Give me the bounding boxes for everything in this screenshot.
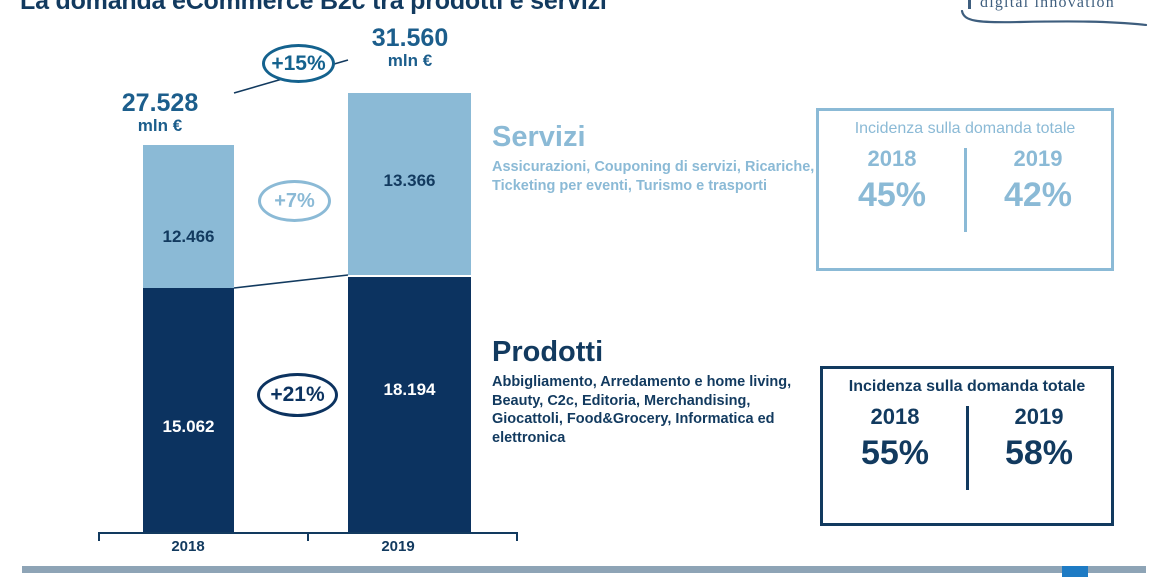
total-value-2019: 31.560	[335, 25, 485, 52]
info-box-prodotti-value-2018: 55%	[823, 432, 967, 475]
info-box-servizi-value-2019: 42%	[965, 174, 1111, 217]
info-box-prodotti-year-2018: 2018	[823, 402, 967, 432]
axis-category-2018: 2018	[128, 538, 248, 555]
info-box-servizi-year-2019: 2019	[965, 144, 1111, 174]
axis-tick-left	[98, 532, 100, 541]
growth-badge-total: +15%	[262, 44, 335, 83]
bar-value-prodotti-2019: 18.194	[348, 380, 471, 400]
info-box-prodotti: Incidenza sulla domanda totale 2018 55% …	[820, 366, 1114, 526]
info-box-prodotti-col-2018: 2018 55%	[823, 402, 967, 474]
info-box-prodotti-col-2019: 2019 58%	[967, 402, 1111, 474]
bar-segment-prodotti-2019[interactable]	[348, 277, 471, 533]
info-box-prodotti-year-2019: 2019	[967, 402, 1111, 432]
logo-bar-icon	[968, 0, 971, 9]
info-box-prodotti-heading: Incidenza sulla domanda totale	[823, 378, 1111, 396]
info-box-prodotti-divider	[966, 406, 969, 490]
bar-value-servizi-2018: 12.466	[143, 227, 234, 247]
axis-tick-right	[516, 532, 518, 541]
total-value-2018: 27.528	[85, 90, 235, 117]
brand-logo: digital innovation	[944, 0, 1166, 34]
info-box-servizi-col-2018: 2018 45%	[819, 144, 965, 216]
category-servizi: Servizi Assicurazioni, Couponing di serv…	[492, 123, 822, 195]
footer-accent-square	[1062, 566, 1088, 577]
info-box-servizi-heading: Incidenza sulla domanda totale	[819, 120, 1111, 138]
info-box-servizi-divider	[964, 148, 967, 232]
stacked-bar-chart: 27.528 mln € 31.560 mln € 12.466 15.062 …	[0, 0, 520, 584]
category-prodotti-title: Prodotti	[492, 338, 822, 367]
axis-category-2019: 2019	[338, 538, 458, 555]
info-box-prodotti-value-2019: 58%	[967, 432, 1111, 475]
footer-rule	[22, 566, 1146, 573]
growth-badge-prodotti: +21%	[257, 373, 338, 417]
info-box-servizi-col-2019: 2019 42%	[965, 144, 1111, 216]
bar-segment-prodotti-2018[interactable]	[143, 288, 234, 533]
axis-tick-middle	[307, 532, 309, 541]
category-prodotti: Prodotti Abbigliamento, Arredamento e ho…	[492, 338, 822, 447]
total-label-2019: 31.560 mln €	[335, 25, 485, 70]
total-label-2018: 27.528 mln €	[85, 90, 235, 135]
info-box-servizi: Incidenza sulla domanda totale 2018 45% …	[816, 108, 1114, 271]
slide-root: La domanda eCommerce B2c tra prodotti e …	[0, 0, 1168, 584]
growth-badge-servizi: +7%	[258, 180, 331, 222]
logo-swoosh-icon	[960, 10, 1150, 26]
bar-2019[interactable]: 13.366 18.194	[348, 93, 471, 533]
category-servizi-description: Assicurazioni, Couponing di servizi, Ric…	[492, 158, 822, 195]
bar-value-prodotti-2018: 15.062	[143, 417, 234, 437]
total-unit-2018: mln €	[85, 117, 235, 135]
category-servizi-title: Servizi	[492, 123, 822, 152]
bar-value-servizi-2019: 13.366	[348, 171, 471, 191]
total-unit-2019: mln €	[335, 52, 485, 70]
info-box-servizi-year-2018: 2018	[819, 144, 965, 174]
bar-segment-servizi-2018[interactable]	[143, 145, 234, 288]
info-box-servizi-value-2018: 45%	[819, 174, 965, 217]
info-box-servizi-columns: 2018 45% 2019 42%	[819, 144, 1111, 216]
category-prodotti-description: Abbigliamento, Arredamento e home living…	[492, 373, 822, 447]
bar-2018[interactable]: 12.466 15.062	[143, 145, 234, 533]
info-box-prodotti-columns: 2018 55% 2019 58%	[823, 402, 1111, 474]
